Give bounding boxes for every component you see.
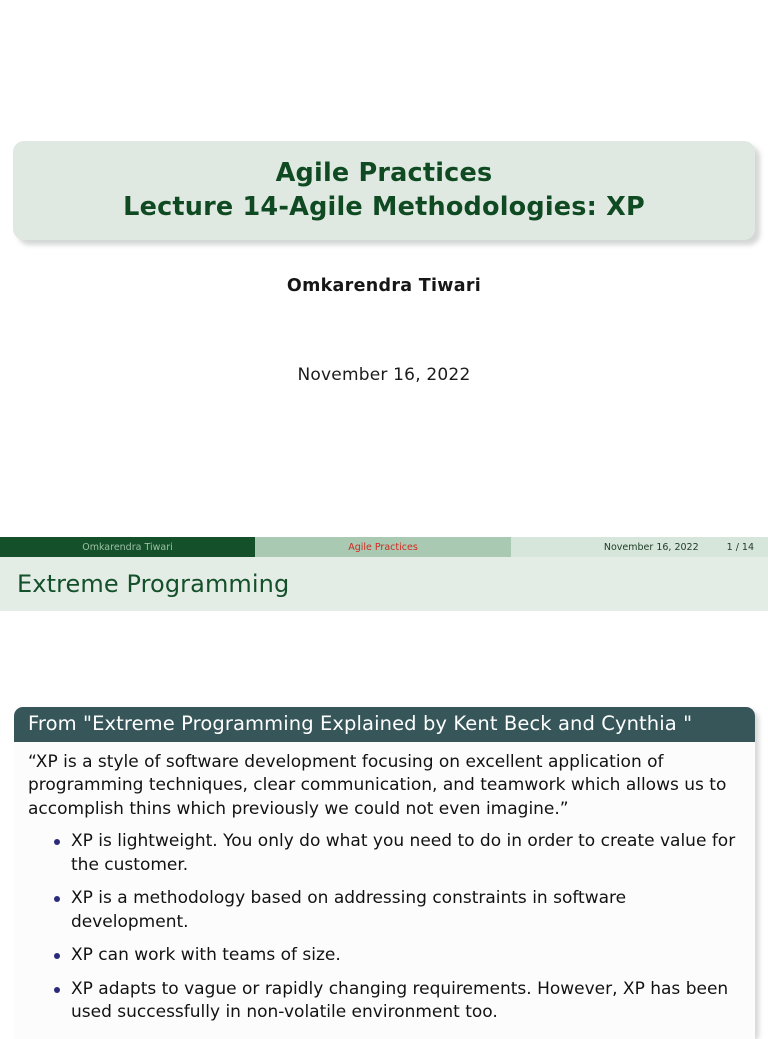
presentation-date: November 16, 2022 <box>0 365 768 385</box>
quote-block: From "Extreme Programming Explained by K… <box>14 707 755 1039</box>
list-item: XP adapts to vague or rapidly changing r… <box>54 978 741 1025</box>
list-item-text: XP is a methodology based on addressing … <box>71 888 626 931</box>
block-quote-paragraph: “XP is a style of software development f… <box>28 751 741 821</box>
footer-author: Omkarendra Tiwari <box>0 537 255 557</box>
bullet-dot-icon <box>54 953 60 959</box>
block-title: From "Extreme Programming Explained by K… <box>14 707 755 742</box>
slide-footer-bar: Omkarendra Tiwari Agile Practices Novemb… <box>0 537 768 557</box>
list-item: XP can work with teams of size. <box>54 944 741 967</box>
footer-date: November 16, 2022 <box>604 542 699 553</box>
presentation-subtitle: Lecture 14-Agile Methodologies: XP <box>123 192 645 223</box>
content-slide: Extreme Programming From "Extreme Progra… <box>0 557 768 1024</box>
list-item: XP is a methodology based on addressing … <box>54 887 741 934</box>
title-slide: Agile Practices Lecture 14-Agile Methodo… <box>0 0 768 557</box>
title-box: Agile Practices Lecture 14-Agile Methodo… <box>13 141 755 240</box>
list-item-text: XP is lightweight. You only do what you … <box>71 831 735 874</box>
presentation-title: Agile Practices <box>276 158 493 189</box>
bullet-list: XP is lightweight. You only do what you … <box>28 830 741 1024</box>
list-item-text: XP can work with teams of size. <box>71 945 341 965</box>
author-name: Omkarendra Tiwari <box>0 276 768 296</box>
footer-short-title: Agile Practices <box>255 537 511 557</box>
title-box-wrapper: Agile Practices Lecture 14-Agile Methodo… <box>13 141 755 240</box>
bullet-dot-icon <box>54 896 60 902</box>
footer-page-number: 1 / 14 <box>727 542 754 553</box>
block-wrapper: From "Extreme Programming Explained by K… <box>14 707 755 1039</box>
frame-title: Extreme Programming <box>0 570 289 598</box>
footer-right-section: November 16, 2022 1 / 14 <box>511 537 768 557</box>
list-item-text: XP adapts to vague or rapidly changing r… <box>71 979 728 1022</box>
frame-title-band: Extreme Programming <box>0 557 768 611</box>
bullet-dot-icon <box>54 987 60 993</box>
bullet-dot-icon <box>54 839 60 845</box>
list-item: XP is lightweight. You only do what you … <box>54 830 741 877</box>
block-body: “XP is a style of software development f… <box>14 742 755 1039</box>
